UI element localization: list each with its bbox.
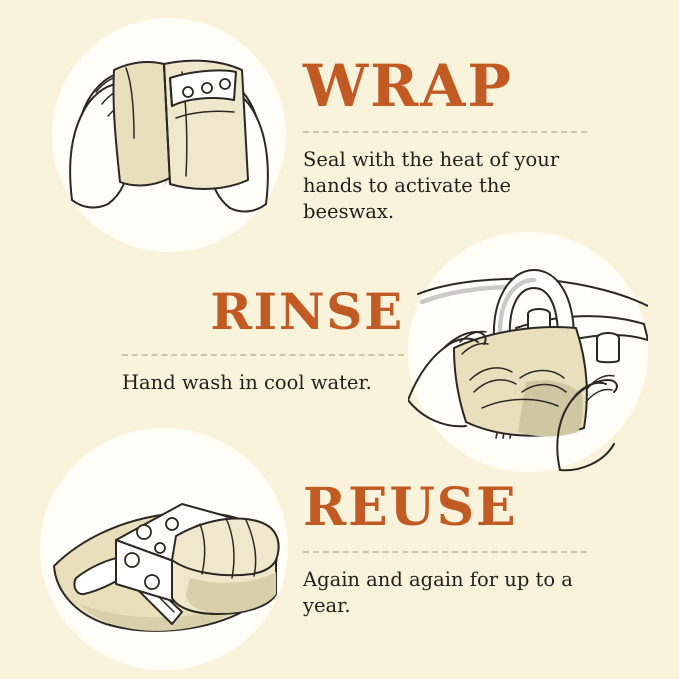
wrap-body-text: Seal with the heat of your hands to acti…	[303, 147, 587, 225]
beeswax-wrapped-sandwich	[113, 61, 248, 189]
rinse-illustration-plate	[408, 232, 648, 472]
wrap-text-block: WRAP Seal with the heat of your hands to…	[303, 57, 587, 225]
wrap-divider	[303, 131, 587, 133]
rinse-divider	[122, 354, 404, 356]
wrap-heading: WRAP	[303, 57, 587, 115]
care-instructions-infographic: WRAP Seal with the heat of your hands to…	[0, 0, 679, 679]
reuse-illustration-plate	[40, 428, 288, 670]
wrap-illustration-plate	[52, 18, 286, 252]
beeswax-wrap-cloth	[454, 327, 587, 437]
rinse-body-text: Hand wash in cool water.	[122, 370, 404, 396]
wrapped-cheese-bundle	[172, 518, 279, 614]
rinse-heading: RINSE	[122, 287, 404, 337]
hands-washing-wrap-under-faucet-illustration	[408, 232, 648, 472]
reuse-body-text: Again and again for up to a year.	[303, 567, 587, 619]
hands-wrapping-sandwich-illustration	[52, 18, 286, 252]
reuse-heading: REUSE	[303, 482, 587, 534]
reuse-divider	[303, 551, 587, 553]
cheese-block-knife-wrapped-cheese-illustration	[40, 428, 288, 670]
rinse-text-block: RINSE Hand wash in cool water.	[122, 287, 404, 396]
reuse-text-block: REUSE Again and again for up to a year.	[303, 482, 587, 619]
